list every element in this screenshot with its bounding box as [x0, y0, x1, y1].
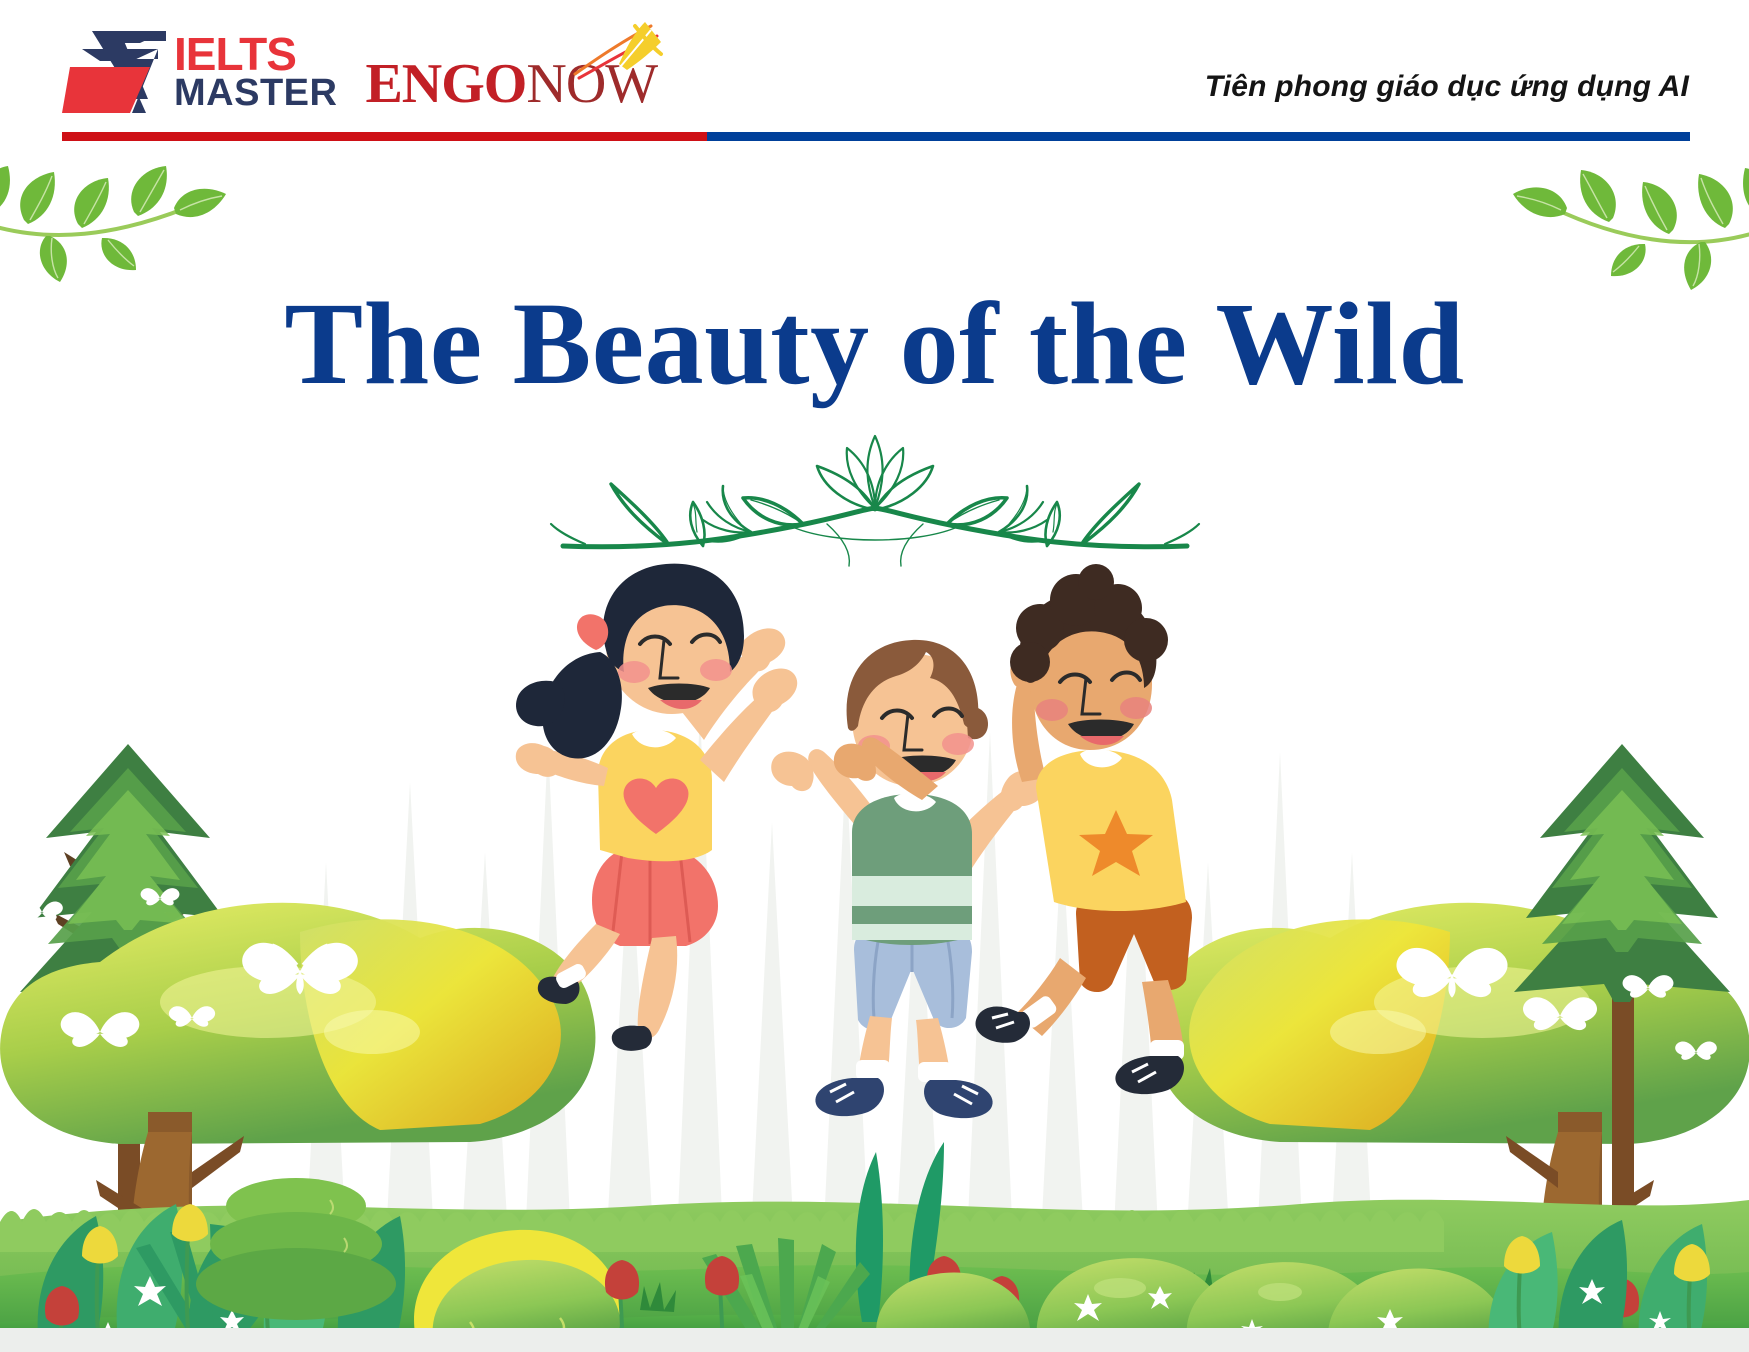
engo-word: ENGO	[365, 53, 526, 115]
bottom-strip	[0, 1328, 1749, 1352]
page-title: The Beauty of the Wild	[0, 282, 1749, 406]
topiary-stack	[196, 1178, 396, 1320]
ielts-word: IELTS	[174, 33, 337, 75]
leafy-vine-icon-left	[0, 150, 270, 295]
header-divider-rule	[62, 132, 1690, 141]
ielts-master-wordmark: IELTS MASTER	[174, 33, 337, 110]
engonow-logo: ENGONOW	[365, 42, 657, 112]
brand-lockup: IELTS MASTER ENGONOW	[62, 22, 657, 118]
engonow-wordmark: ENGONOW	[365, 56, 657, 112]
slide-header: IELTS MASTER ENGONOW	[0, 0, 1749, 150]
header-rule-blue-segment	[707, 132, 1690, 141]
title-area: The Beauty of the Wild	[0, 282, 1749, 568]
header-tagline: Tiên phong giáo dục ứng dụng AI	[1205, 70, 1689, 104]
slide-canvas: IELTS MASTER ENGONOW	[0, 0, 1749, 1352]
nature-scene-illustration	[0, 532, 1749, 1352]
header-rule-red-segment	[62, 132, 707, 141]
stacked-books-icon	[62, 29, 168, 115]
floral-divider-icon	[0, 428, 1749, 568]
master-word: MASTER	[174, 76, 337, 111]
now-word: NOW	[526, 53, 657, 115]
ielts-master-logo: IELTS MASTER	[62, 26, 337, 118]
